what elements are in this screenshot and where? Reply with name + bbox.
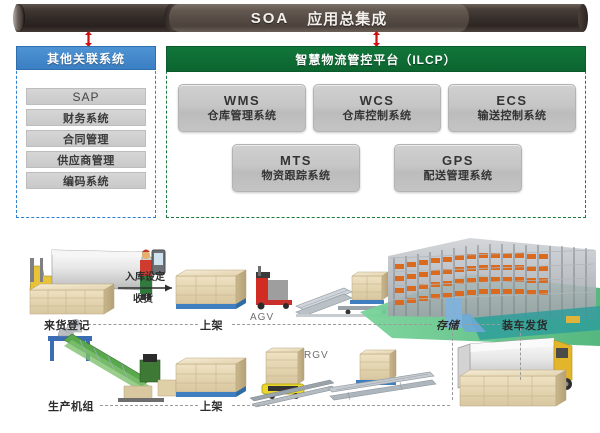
related-systems-header: 其他关联系统 — [16, 46, 156, 70]
flow-label-storage: 存储 — [436, 317, 459, 333]
flow-dashline-3 — [466, 324, 500, 325]
vertical-dash-shipping — [520, 328, 521, 380]
module-code: GPS — [442, 153, 474, 169]
rgv-label: RGV — [304, 350, 329, 361]
art-agv-vehicle — [256, 266, 292, 310]
banner-title-cn: 应用总集成 — [307, 8, 387, 29]
ilcp-header: 智慧物流管控平台（ILCP） — [166, 46, 586, 72]
module-card-ecs[interactable]: ECS 输送控制系统 — [448, 84, 576, 132]
logistics-illustration: 入库设定 收货 AGV RGV 来货登记 上架 存储 装车发货 生产机组 上架 — [0, 228, 600, 433]
list-item[interactable]: 合同管理 — [26, 130, 146, 147]
ilcp-module-row-2: MTS 物资跟踪系统 GPS 配送管理系统 — [232, 144, 522, 192]
flow-label-shipping: 装车发货 — [502, 317, 548, 333]
flow-label-production: 生产机组 — [48, 398, 94, 414]
art-conveyor-1 — [296, 288, 352, 316]
soa-banner: SOA 应用总集成 — [14, 4, 586, 32]
flow-dashline-4 — [100, 405, 198, 406]
list-item[interactable]: SAP — [26, 88, 146, 105]
module-name: 配送管理系统 — [424, 169, 493, 184]
list-item[interactable]: 财务系统 — [26, 109, 146, 126]
flow-label-putaway-2: 上架 — [200, 398, 223, 414]
list-item[interactable]: 编码系统 — [26, 172, 146, 189]
banner-tube-cap-right — [578, 4, 588, 32]
list-item[interactable]: 供应商管理 — [26, 151, 146, 168]
module-code: ECS — [496, 93, 527, 109]
module-code: WMS — [224, 93, 260, 109]
flow-dashline-1 — [88, 324, 198, 325]
module-name: 仓库管理系统 — [208, 109, 277, 124]
flow-label-putaway-1: 上架 — [200, 317, 223, 333]
banner-title-en: SOA — [251, 10, 290, 27]
module-code: WCS — [360, 93, 395, 109]
art-pallet-1 — [176, 270, 246, 309]
banner-title: SOA 应用总集成 — [169, 4, 469, 32]
module-name: 物资跟踪系统 — [262, 169, 331, 184]
vertical-dash-storage — [452, 328, 453, 400]
agv-label: AGV — [250, 312, 274, 323]
connector-arrow-right — [372, 31, 381, 47]
step-label-top: 入库设定 — [125, 268, 165, 283]
related-systems-list: SAP 财务系统 合同管理 供应商管理 编码系统 — [26, 88, 146, 193]
module-card-mts[interactable]: MTS 物资跟踪系统 — [232, 144, 360, 192]
flow-label-arrival: 来货登记 — [44, 317, 90, 333]
ilcp-module-row-1: WMS 仓库管理系统 WCS 仓库控制系统 ECS 输送控制系统 — [178, 84, 576, 132]
art-outbound-truck — [458, 338, 572, 406]
step-label-bottom: 收货 — [133, 290, 153, 305]
art-conveyor-2 — [328, 350, 436, 400]
module-card-wms[interactable]: WMS 仓库管理系统 — [178, 84, 306, 132]
module-name: 输送控制系统 — [478, 109, 547, 124]
flow-dashline-2 — [232, 324, 432, 325]
connector-arrow-left — [84, 31, 93, 47]
module-card-gps[interactable]: GPS 配送管理系统 — [394, 144, 522, 192]
module-code: MTS — [280, 153, 312, 169]
diagram-canvas: SOA 应用总集成 其他关联系统 SAP 财务系统 合同管理 供应商管理 编码系… — [0, 0, 600, 433]
art-pallet-3 — [176, 358, 246, 397]
banner-tube-cap-left — [13, 4, 25, 32]
module-name: 仓库控制系统 — [343, 109, 412, 124]
flow-dashline-5 — [232, 405, 450, 406]
module-card-wcs[interactable]: WCS 仓库控制系统 — [313, 84, 441, 132]
art-storage-rack — [360, 238, 600, 346]
